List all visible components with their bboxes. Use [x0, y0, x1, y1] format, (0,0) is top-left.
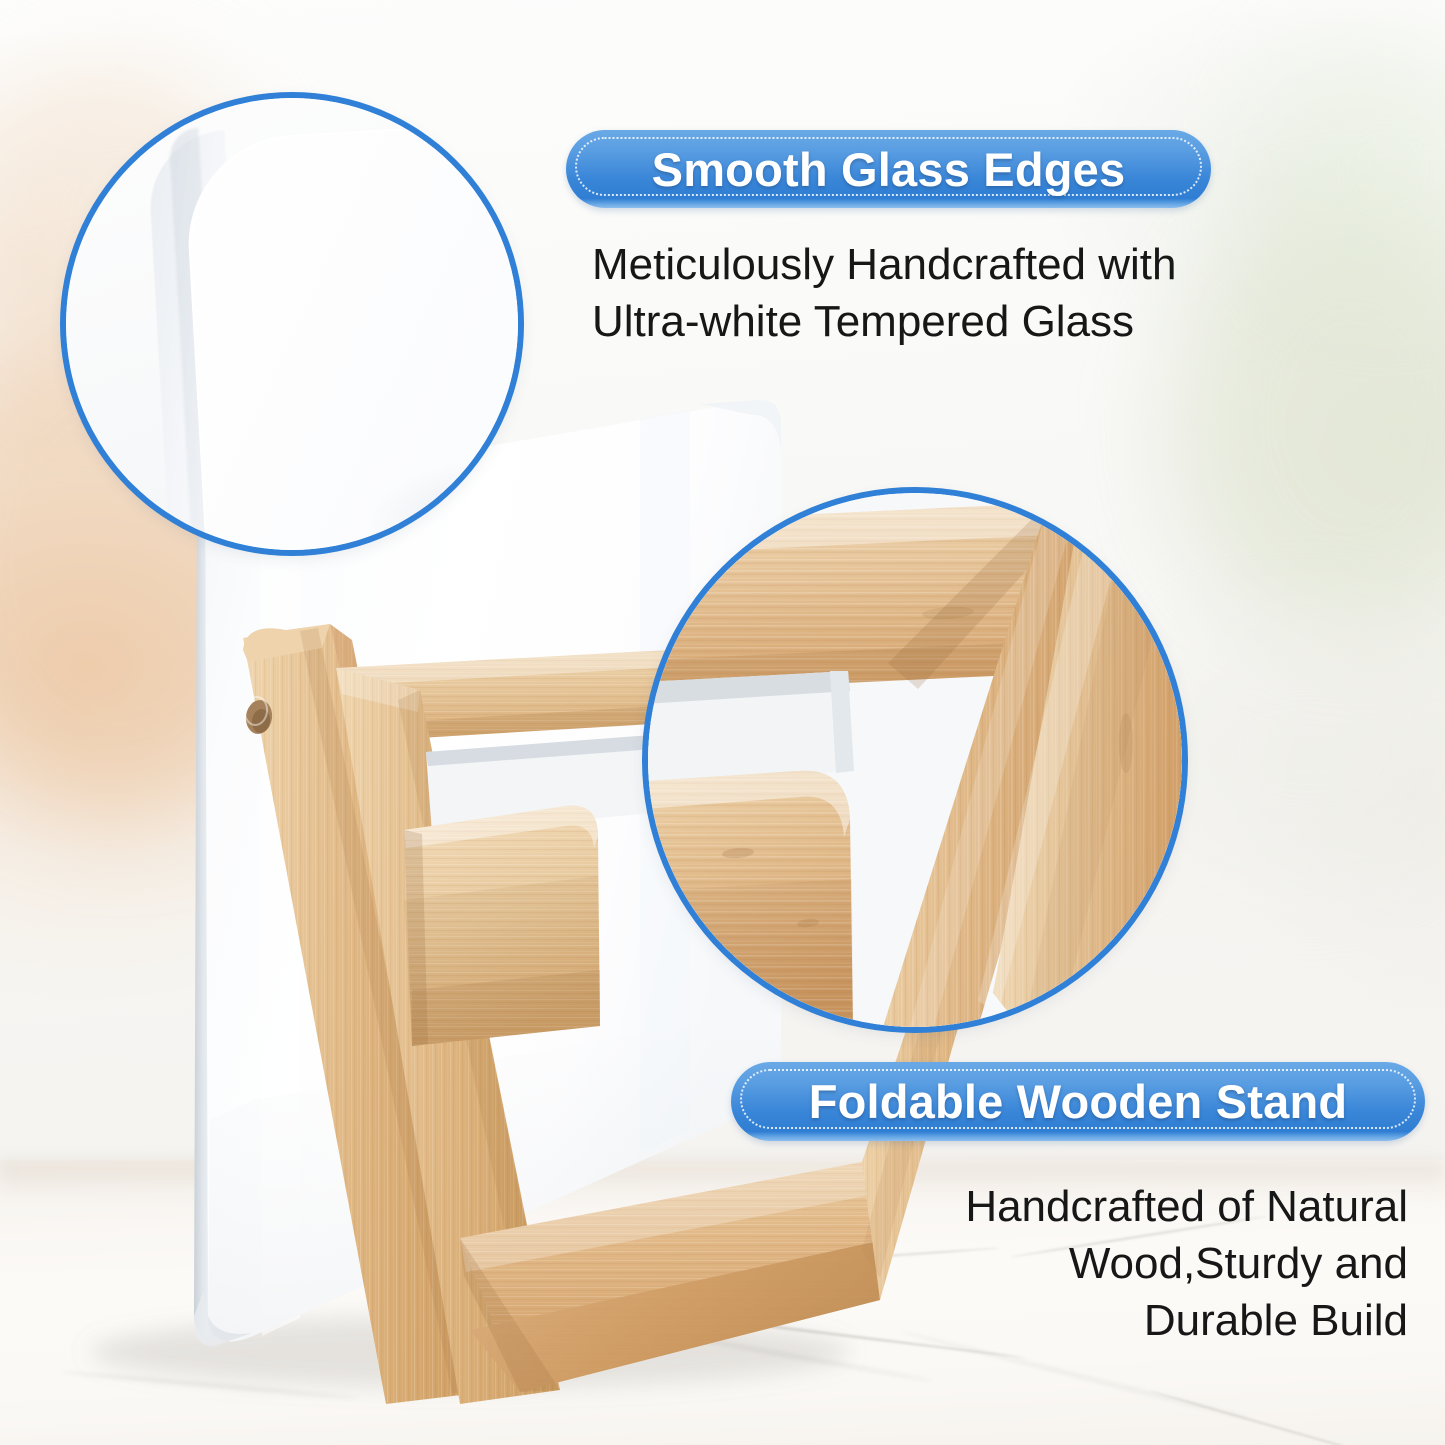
pill-label: Smooth Glass Edges: [652, 142, 1126, 197]
infographic-canvas: Smooth Glass Edges Foldable Wooden Stand…: [0, 0, 1445, 1445]
description-line: Handcrafted of Natural: [888, 1178, 1408, 1235]
description-line: Durable Build: [888, 1292, 1408, 1349]
marble-vein: [60, 1370, 359, 1400]
feature-description-foldable-wooden-stand: Handcrafted of Natural Wood,Sturdy and D…: [888, 1178, 1408, 1350]
marble-vein: [1150, 1390, 1381, 1445]
description-line: Wood,Sturdy and: [888, 1235, 1408, 1292]
wood-joint-closeup-magnifier: [648, 493, 1182, 1027]
description-line: Ultra-white Tempered Glass: [592, 293, 1272, 350]
feature-pill-foldable-wooden-stand[interactable]: Foldable Wooden Stand: [731, 1062, 1425, 1141]
zoom-glass-shadow: [366, 460, 518, 550]
feature-pill-smooth-glass-edges[interactable]: Smooth Glass Edges: [566, 130, 1211, 208]
description-line: Meticulously Handcrafted with: [592, 236, 1272, 293]
glass-corner-closeup-magnifier: [66, 98, 518, 550]
pill-label: Foldable Wooden Stand: [809, 1074, 1348, 1129]
zoom-wood-illustration: [648, 493, 1182, 1027]
feature-description-smooth-glass-edges: Meticulously Handcrafted with Ultra-whit…: [592, 236, 1272, 350]
marble-vein: [520, 1306, 934, 1383]
magnifier-content: [66, 98, 518, 550]
magnifier-content: [648, 493, 1182, 1027]
